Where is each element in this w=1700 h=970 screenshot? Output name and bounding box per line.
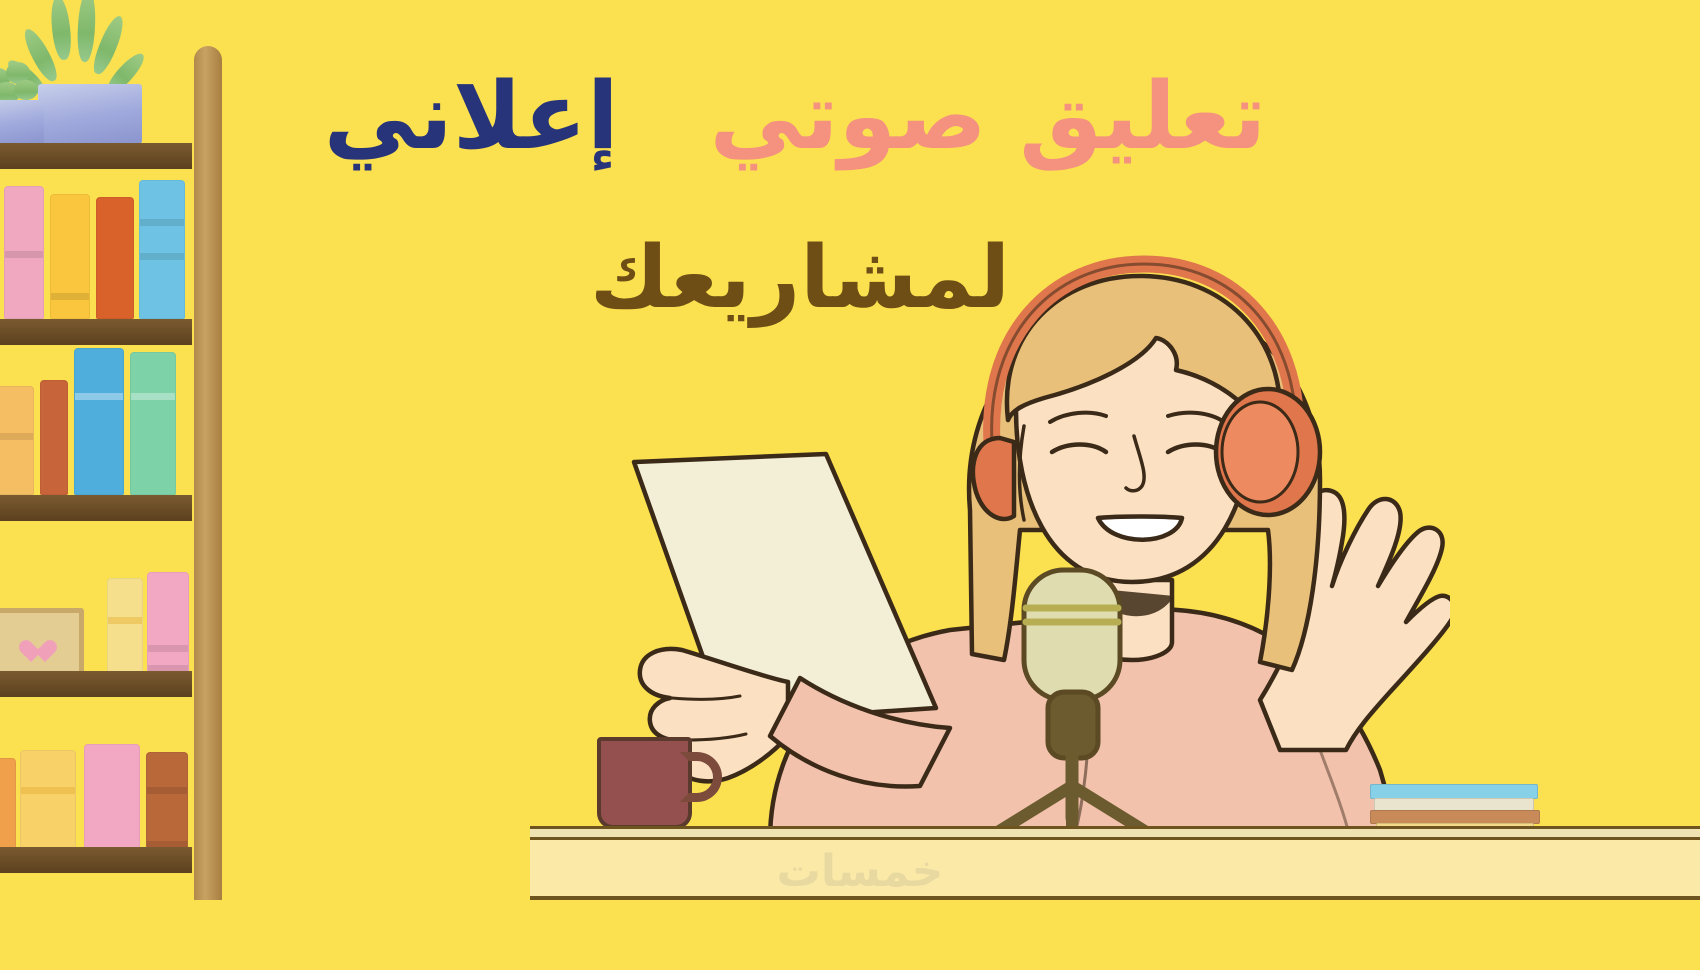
title-highlight-pink: تعليق صوتي [710, 62, 1267, 170]
book [0, 386, 34, 495]
desk-front-panel [530, 840, 1700, 900]
shelf-board [0, 847, 192, 873]
title-highlight-navy: إعلاني [324, 62, 619, 170]
title-line-1: تعليق صوتي إعلاني [320, 70, 1270, 163]
thumbnail-canvas: تعليق صوتي إعلاني لمشاريعك [0, 0, 1700, 970]
desk-surface [530, 826, 1700, 840]
heart-icon [26, 639, 52, 663]
book [50, 194, 90, 319]
stacked-book [1370, 784, 1538, 799]
book [96, 197, 134, 319]
book [74, 348, 124, 495]
illustration-voice-artist [620, 230, 1450, 840]
desk-below-area [0, 900, 1700, 970]
stacked-book [1370, 810, 1540, 824]
bookshelf-side-post [194, 46, 222, 970]
book [4, 186, 44, 319]
shelf-board [0, 495, 192, 521]
watermark-khamsat: خمسات [745, 843, 975, 901]
coffee-mug [597, 737, 692, 829]
bookshelf [0, 0, 222, 970]
plant-pot-blue [38, 84, 142, 144]
shelf-board [0, 319, 192, 345]
book [139, 180, 185, 319]
book-stack [1370, 760, 1545, 828]
book [130, 352, 176, 495]
shelf-board [0, 143, 192, 169]
plant-pot-small [0, 100, 44, 144]
shelf-board [0, 671, 192, 697]
book [40, 380, 68, 495]
